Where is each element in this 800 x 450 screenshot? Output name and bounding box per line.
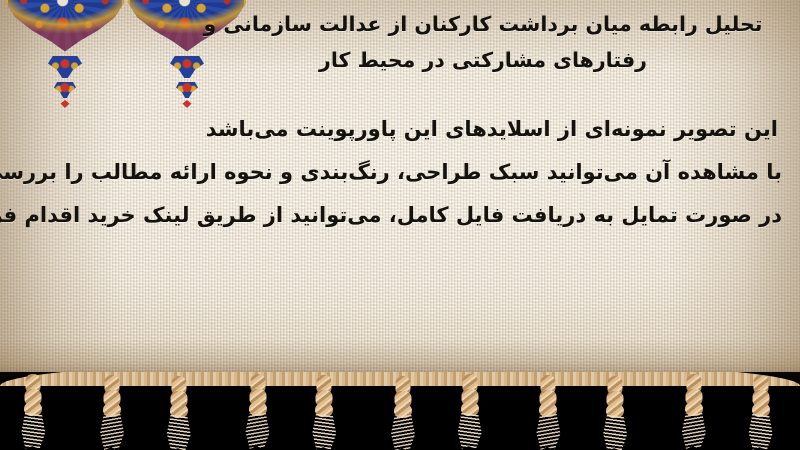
fringe-tassel: [746, 375, 776, 449]
presentation-slide: تحلیل رابطه میان برداشت کارکنان از عدالت…: [0, 0, 800, 450]
fringe-tassel: [679, 374, 709, 448]
tassel-strands: [681, 413, 707, 449]
fringe-tassel: [97, 375, 127, 449]
body-line-1: این تصویر نمونه‌ای از اسلایدهای این پاور…: [4, 108, 786, 151]
slide-title-line-2: رفتارهای مشارکتی در محیط کار: [188, 42, 778, 78]
fringe-tassel: [18, 374, 48, 448]
fringe-tassel: [309, 375, 339, 449]
tassel-strands: [390, 415, 416, 450]
tassel-strands: [99, 414, 125, 450]
fringe-tassel: [388, 376, 418, 450]
tassel-strands: [166, 415, 192, 450]
fringe-tassel: [243, 374, 273, 448]
tassel-strands: [535, 414, 561, 450]
tassel-strands: [748, 414, 774, 450]
tassel-strands: [311, 414, 337, 450]
fringe-tassel: [533, 375, 563, 449]
body-line-2: با مشاهده آن می‌توانید سبک طراحی، رنگ‌بن…: [4, 151, 786, 194]
body-line-3: در صورت تمایل به دریافت فایل کامل، می‌تو…: [4, 194, 786, 237]
medallion-gold-border-icon: [6, 0, 124, 56]
slide-title: تحلیل رابطه میان برداشت کارکنان از عدالت…: [188, 6, 778, 79]
slide-body-text: این تصویر نمونه‌ای از اسلایدهای این پاور…: [4, 108, 786, 237]
tassel-strands: [602, 415, 628, 450]
fringe-tassel: [164, 376, 194, 450]
tassel-strands: [20, 413, 46, 449]
tassel-strands: [245, 413, 271, 449]
slide-title-line-1: تحلیل رابطه میان برداشت کارکنان از عدالت…: [188, 6, 778, 42]
tassel-strands: [457, 413, 483, 449]
medallion-ornament-left: [6, 0, 124, 56]
carpet-fringe-band: [0, 372, 800, 450]
fringe-tassel: [600, 376, 630, 450]
fringe-tassel: [455, 374, 485, 448]
